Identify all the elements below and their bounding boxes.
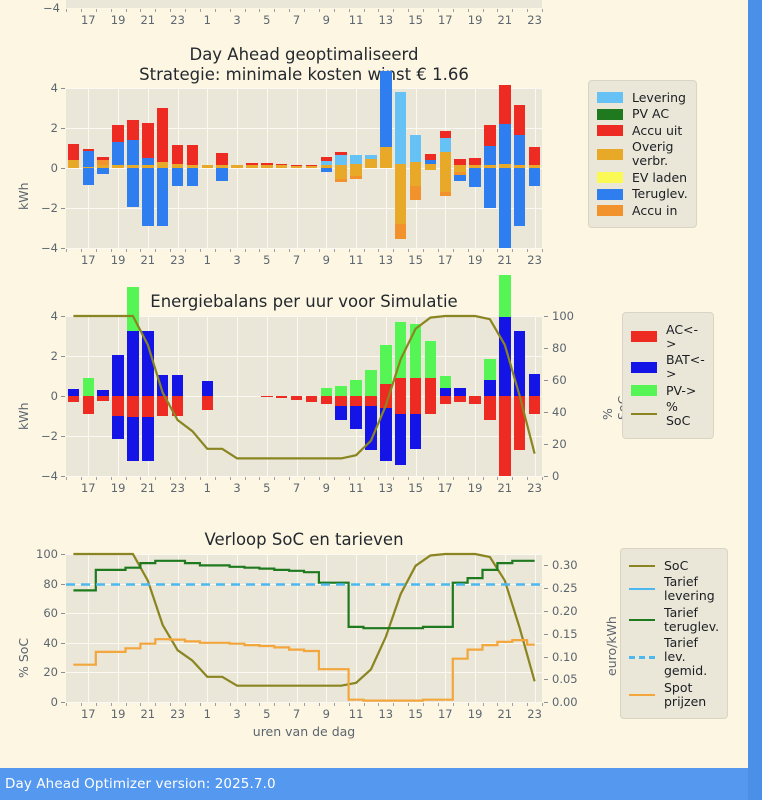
x-minor-tick — [453, 703, 454, 706]
x-minor-tick — [453, 477, 454, 480]
legend-label: Tarief lev. gemid. — [664, 636, 719, 678]
bar-segment — [306, 165, 318, 166]
x-minor-tick — [111, 477, 112, 480]
x-tick-label: 23 — [527, 13, 542, 27]
chart1-title: Day Ahead geoptimaliseerd Strategie: min… — [66, 45, 542, 85]
x-minor-tick — [304, 249, 305, 252]
legend-label: Levering — [632, 91, 686, 105]
x-minor-tick — [364, 703, 365, 706]
x-tick-label: 15 — [408, 253, 423, 267]
bar-segment — [425, 160, 437, 164]
bar-segment — [440, 168, 452, 192]
bar-segment — [83, 151, 95, 167]
data-line — [73, 554, 534, 686]
bar-segment — [499, 275, 511, 317]
y-tick-label-right: 0.25 — [552, 581, 578, 595]
legend-label: % SoC — [666, 400, 705, 428]
x-tick-label: 9 — [323, 481, 330, 495]
grid-line-v — [297, 88, 298, 248]
chart-verloop-soc-en-tarieven: Verloop SoC en tarieven % SoC euro/kWh u… — [0, 528, 620, 768]
x-tick-label: 13 — [378, 707, 393, 721]
y-tick-mark-right — [544, 634, 548, 635]
y-tick-mark-right — [544, 679, 548, 680]
x-minor-tick — [527, 249, 528, 252]
x-minor-tick — [66, 249, 67, 252]
x-minor-tick — [423, 703, 424, 706]
x-minor-tick — [393, 477, 394, 480]
x-minor-tick — [364, 477, 365, 480]
y-tick-label-right: 80 — [552, 341, 567, 355]
chart-energiebalans-per-uur: Energiebalans per uur voor Simulatie kWh… — [0, 290, 620, 520]
x-tick-label: 21 — [497, 253, 512, 267]
legend-label: Spot prijzen — [664, 681, 719, 709]
bar-segment — [410, 135, 422, 162]
y-tick-label-right: 0.30 — [552, 558, 578, 572]
x-minor-tick — [542, 249, 543, 252]
legend-item: PV AC — [597, 107, 688, 121]
y-tick-mark — [61, 702, 65, 703]
x-minor-tick — [126, 9, 127, 12]
y-tick-label-right: 0.00 — [552, 695, 578, 709]
bar-segment — [454, 159, 466, 165]
x-tick-label: 3 — [233, 481, 240, 495]
legend-label: PV AC — [632, 107, 669, 121]
legend-swatch-line — [629, 588, 655, 590]
x-minor-tick — [259, 703, 260, 706]
bar-segment — [380, 71, 392, 147]
y-tick-label-right: 0.20 — [552, 604, 578, 618]
chart1-plot-area — [66, 88, 542, 248]
x-tick-label: 17 — [81, 707, 96, 721]
x-tick-label: 13 — [378, 253, 393, 267]
x-minor-tick — [364, 9, 365, 12]
chart2-plot-area — [66, 316, 542, 476]
bar-segment — [246, 165, 258, 168]
legend-swatch — [597, 205, 623, 216]
legend-swatch-line — [629, 694, 655, 696]
x-tick-label: 21 — [497, 13, 512, 27]
bar-segment — [469, 158, 481, 165]
legend-item: Tarief teruglev. — [629, 606, 719, 634]
x-minor-tick — [274, 477, 275, 480]
bar-segment — [365, 159, 377, 168]
version-text: Day Ahead Optimizer version: 2025.7.0 — [0, 768, 748, 800]
bar-segment — [484, 168, 496, 208]
x-minor-tick — [364, 249, 365, 252]
legend-item: PV-> — [631, 384, 705, 398]
y-tick-label-right: 20 — [552, 437, 567, 451]
x-tick-label: 19 — [468, 253, 483, 267]
chart3-title: Verloop SoC en tarieven — [66, 530, 542, 549]
y-tick-mark-right — [544, 348, 548, 349]
x-minor-tick — [155, 477, 156, 480]
x-minor-tick — [155, 703, 156, 706]
y-tick-mark-right — [544, 611, 548, 612]
x-minor-tick — [542, 477, 543, 480]
bar-segment — [514, 105, 526, 135]
x-minor-tick — [126, 477, 127, 480]
x-minor-tick — [438, 249, 439, 252]
x-minor-tick — [334, 477, 335, 480]
bar-segment — [261, 165, 273, 168]
y-tick-mark-right — [544, 565, 548, 566]
y-tick-mark — [61, 208, 65, 209]
x-minor-tick — [408, 249, 409, 252]
y-tick-label: 60 — [20, 606, 58, 620]
y-tick-label-right: 0.15 — [552, 627, 578, 641]
x-tick-label: 11 — [349, 253, 364, 267]
x-minor-tick — [140, 703, 141, 706]
legend-item: Accu in — [597, 204, 688, 218]
chart2-ylabel: kWh — [16, 402, 31, 430]
x-minor-tick — [438, 477, 439, 480]
x-tick-label: 19 — [111, 707, 126, 721]
x-minor-tick — [140, 249, 141, 252]
legend-swatch — [631, 385, 657, 396]
bar-segment — [97, 160, 109, 165]
x-tick-label: 5 — [263, 481, 270, 495]
bar-segment — [410, 186, 422, 200]
x-minor-tick — [81, 249, 82, 252]
y-tick-label-right: 0 — [552, 469, 559, 483]
legend-label: AC<-> — [666, 323, 705, 351]
x-minor-tick — [527, 703, 528, 706]
data-line — [73, 639, 534, 700]
x-minor-tick — [304, 477, 305, 480]
bar-segment — [440, 152, 452, 168]
legend-label: BAT<-> — [666, 353, 705, 381]
legend-label: Tarief teruglev. — [664, 606, 719, 634]
grid-line-v — [118, 88, 119, 248]
x-minor-tick — [483, 703, 484, 706]
bar-segment — [484, 125, 496, 146]
legend-item: Tarief lev. gemid. — [629, 636, 719, 678]
grid-line-v — [267, 88, 268, 248]
x-tick-label: 19 — [111, 13, 126, 27]
x-tick-label: 11 — [349, 481, 364, 495]
x-tick-label: 23 — [527, 481, 542, 495]
y-tick-label-right: 60 — [552, 373, 567, 387]
x-minor-tick — [289, 249, 290, 252]
y-tick-mark — [61, 643, 65, 644]
y-tick-mark — [61, 436, 65, 437]
y-tick-mark — [61, 672, 65, 673]
x-minor-tick — [393, 249, 394, 252]
y-tick-mark — [61, 554, 65, 555]
legend-swatch — [597, 149, 623, 160]
x-tick-label: 23 — [527, 253, 542, 267]
x-minor-tick — [111, 703, 112, 706]
x-minor-tick — [512, 249, 513, 252]
bar-segment — [440, 138, 452, 152]
x-tick-label: 21 — [140, 13, 155, 27]
bar-segment — [68, 144, 80, 160]
bar-segment — [321, 161, 333, 165]
bar-segment — [335, 155, 347, 165]
x-minor-tick — [512, 477, 513, 480]
chart2-legend: AC<->BAT<->PV->% SoC — [622, 312, 714, 439]
bar-segment — [306, 166, 318, 168]
legend-item: Teruglev. — [597, 187, 688, 201]
x-minor-tick — [289, 9, 290, 12]
chart3-ylabel-right: euro/kWh — [604, 616, 619, 676]
x-minor-tick — [497, 9, 498, 12]
x-minor-tick — [349, 249, 350, 252]
x-minor-tick — [96, 9, 97, 12]
x-minor-tick — [215, 9, 216, 12]
grid-line-h — [66, 208, 542, 209]
legend-item: Levering — [597, 91, 688, 105]
bar-segment — [157, 168, 169, 226]
bar-segment — [350, 176, 362, 179]
x-tick-label: 21 — [140, 481, 155, 495]
x-tick-label: 3 — [233, 253, 240, 267]
bar-segment — [83, 149, 95, 151]
x-tick-label: 5 — [263, 253, 270, 267]
x-minor-tick — [542, 9, 543, 12]
x-tick-label: 7 — [293, 253, 300, 267]
bar-segment — [425, 154, 437, 160]
legend-label: Accu in — [632, 204, 677, 218]
bar-segment — [246, 163, 258, 165]
x-minor-tick — [274, 703, 275, 706]
legend-label: EV laden — [632, 171, 687, 185]
bar-segment — [529, 147, 541, 165]
y-tick-label-right: 100 — [552, 309, 574, 323]
bar-segment — [350, 155, 362, 164]
x-minor-tick — [215, 249, 216, 252]
bar-segment — [440, 192, 452, 196]
legend-item: BAT<-> — [631, 353, 705, 381]
x-tick-label: 1 — [204, 253, 211, 267]
x-minor-tick — [438, 703, 439, 706]
bar-segment — [321, 168, 333, 172]
x-minor-tick — [170, 703, 171, 706]
bar-segment — [499, 124, 511, 164]
legend-swatch — [597, 125, 623, 136]
y-tick-label: 2 — [20, 121, 58, 135]
chart3-xlabel: uren van de dag — [66, 724, 542, 739]
x-tick-label: 21 — [140, 707, 155, 721]
y-tick-mark — [61, 88, 65, 89]
y-tick-mark-right — [544, 380, 548, 381]
y-tick-label: 4 — [20, 81, 58, 95]
x-minor-tick — [259, 477, 260, 480]
x-tick-label: 9 — [323, 253, 330, 267]
legend-swatch-line — [631, 413, 657, 415]
bar-segment — [335, 152, 347, 154]
bar-segment — [172, 168, 184, 186]
x-minor-tick — [81, 477, 82, 480]
bar-segment — [142, 168, 154, 226]
x-minor-tick — [200, 477, 201, 480]
x-minor-tick — [542, 703, 543, 706]
x-tick-label: 5 — [263, 13, 270, 27]
bar-segment — [127, 140, 139, 165]
x-tick-label: 17 — [438, 707, 453, 721]
grid-line-v — [237, 88, 238, 248]
bar-segment — [365, 155, 377, 159]
x-minor-tick — [423, 249, 424, 252]
x-tick-label: 1 — [204, 13, 211, 27]
x-minor-tick — [96, 477, 97, 480]
x-minor-tick — [483, 477, 484, 480]
bar-segment — [276, 164, 288, 165]
bar-segment — [112, 125, 124, 142]
y-tick-label: −2 — [20, 429, 58, 443]
x-minor-tick — [200, 249, 201, 252]
bar-segment — [395, 224, 407, 239]
bar-segment — [127, 168, 139, 207]
y-tick-mark — [61, 613, 65, 614]
x-minor-tick — [81, 703, 82, 706]
x-tick-label: 1 — [204, 707, 211, 721]
bar-segment — [514, 135, 526, 165]
data-line — [73, 316, 534, 458]
x-tick-label: 17 — [81, 253, 96, 267]
y-tick-mark-right — [544, 588, 548, 589]
x-minor-tick — [334, 9, 335, 12]
y-tick-mark-right — [544, 702, 548, 703]
x-minor-tick — [304, 703, 305, 706]
y-tick-label: 0 — [20, 161, 58, 175]
legend-item: SoC — [629, 559, 719, 573]
x-tick-label: 5 — [263, 707, 270, 721]
x-minor-tick — [140, 9, 141, 12]
bar-segment — [112, 142, 124, 165]
y-tick-label-right: 0.10 — [552, 650, 578, 664]
x-minor-tick — [230, 9, 231, 12]
bar-segment — [514, 168, 526, 226]
x-minor-tick — [497, 703, 498, 706]
x-minor-tick — [185, 9, 186, 12]
x-minor-tick — [245, 9, 246, 12]
x-minor-tick — [468, 9, 469, 12]
x-minor-tick — [170, 9, 171, 12]
legend-swatch-line — [629, 619, 655, 621]
x-minor-tick — [96, 249, 97, 252]
bar-segment — [172, 145, 184, 164]
x-tick-label: 1 — [204, 481, 211, 495]
bar-segment — [395, 168, 407, 224]
x-minor-tick — [527, 477, 528, 480]
y-tick-label-right: 40 — [552, 405, 567, 419]
bar-segment — [83, 168, 95, 185]
x-minor-tick — [349, 9, 350, 12]
x-minor-tick — [155, 9, 156, 12]
x-minor-tick — [215, 703, 216, 706]
x-minor-tick — [349, 477, 350, 480]
y-tick-mark — [61, 356, 65, 357]
y-tick-label: 0 — [20, 389, 58, 403]
x-minor-tick — [274, 249, 275, 252]
x-minor-tick — [230, 249, 231, 252]
dashboard-page: −4 171921231357911131517192123 Day Ahead… — [0, 0, 762, 800]
bar-segment — [112, 165, 124, 168]
y-tick-mark — [61, 128, 65, 129]
y-tick-mark — [61, 396, 65, 397]
x-minor-tick — [527, 9, 528, 12]
x-tick-label: 23 — [527, 707, 542, 721]
x-minor-tick — [230, 477, 231, 480]
x-minor-tick — [215, 477, 216, 480]
x-minor-tick — [408, 477, 409, 480]
x-minor-tick — [319, 249, 320, 252]
y-tick-label: 2 — [20, 349, 58, 363]
x-minor-tick — [259, 249, 260, 252]
x-minor-tick — [289, 477, 290, 480]
bar-segment — [425, 168, 437, 170]
x-tick-label: 19 — [468, 481, 483, 495]
x-minor-tick — [393, 9, 394, 12]
legend-item: Accu uit — [597, 124, 688, 138]
x-tick-label: 17 — [438, 13, 453, 27]
bar-segment — [335, 179, 347, 182]
x-tick-label: 21 — [497, 707, 512, 721]
bar-segment — [291, 165, 303, 166]
x-minor-tick — [170, 477, 171, 480]
bar-segment — [216, 168, 228, 181]
x-minor-tick — [81, 9, 82, 12]
bar-segment — [321, 157, 333, 161]
bar-segment — [97, 157, 109, 160]
y-tick-label-right: 0.05 — [552, 672, 578, 686]
x-tick-label: 21 — [497, 481, 512, 495]
x-minor-tick — [378, 477, 379, 480]
x-tick-label: 23 — [170, 253, 185, 267]
x-minor-tick — [96, 703, 97, 706]
y-tick-mark — [61, 168, 65, 169]
x-minor-tick — [155, 249, 156, 252]
bar-segment — [291, 166, 303, 168]
x-tick-label: 23 — [170, 13, 185, 27]
bar-segment — [484, 146, 496, 165]
x-minor-tick — [304, 9, 305, 12]
bar-segment — [231, 165, 243, 168]
x-minor-tick — [245, 249, 246, 252]
y-tick-label: −4 — [20, 241, 58, 255]
x-tick-label: 19 — [111, 481, 126, 495]
y-tick-mark — [61, 476, 65, 477]
legend-swatch — [597, 109, 623, 120]
x-minor-tick — [483, 249, 484, 252]
bar-segment — [499, 168, 511, 248]
x-minor-tick — [185, 249, 186, 252]
x-minor-tick — [140, 477, 141, 480]
bar-segment — [187, 168, 199, 186]
legend-label: Overig verbr. — [632, 140, 688, 168]
legend-item: Tarief levering — [629, 575, 719, 603]
x-tick-label: 11 — [349, 707, 364, 721]
x-tick-label: 17 — [81, 481, 96, 495]
x-minor-tick — [126, 703, 127, 706]
clipped-chart-top: −4 171921231357911131517192123 — [0, 0, 600, 10]
x-tick-label: 13 — [378, 481, 393, 495]
bar-segment — [335, 168, 347, 179]
bar-segment — [454, 175, 466, 181]
chart1-legend: LeveringPV ACAccu uitOverig verbr.EV lad… — [588, 80, 697, 228]
bar-segment — [380, 147, 392, 168]
bar-segment — [142, 123, 154, 158]
y-tick-label: 4 — [20, 309, 58, 323]
bar-segment — [127, 120, 139, 140]
x-minor-tick — [170, 249, 171, 252]
y-tick-label: 80 — [20, 577, 58, 591]
x-minor-tick — [200, 9, 201, 12]
x-tick-label: 17 — [438, 481, 453, 495]
chart3-legend: SoCTarief leveringTarief teruglev.Tarief… — [620, 548, 728, 719]
x-minor-tick — [393, 703, 394, 706]
